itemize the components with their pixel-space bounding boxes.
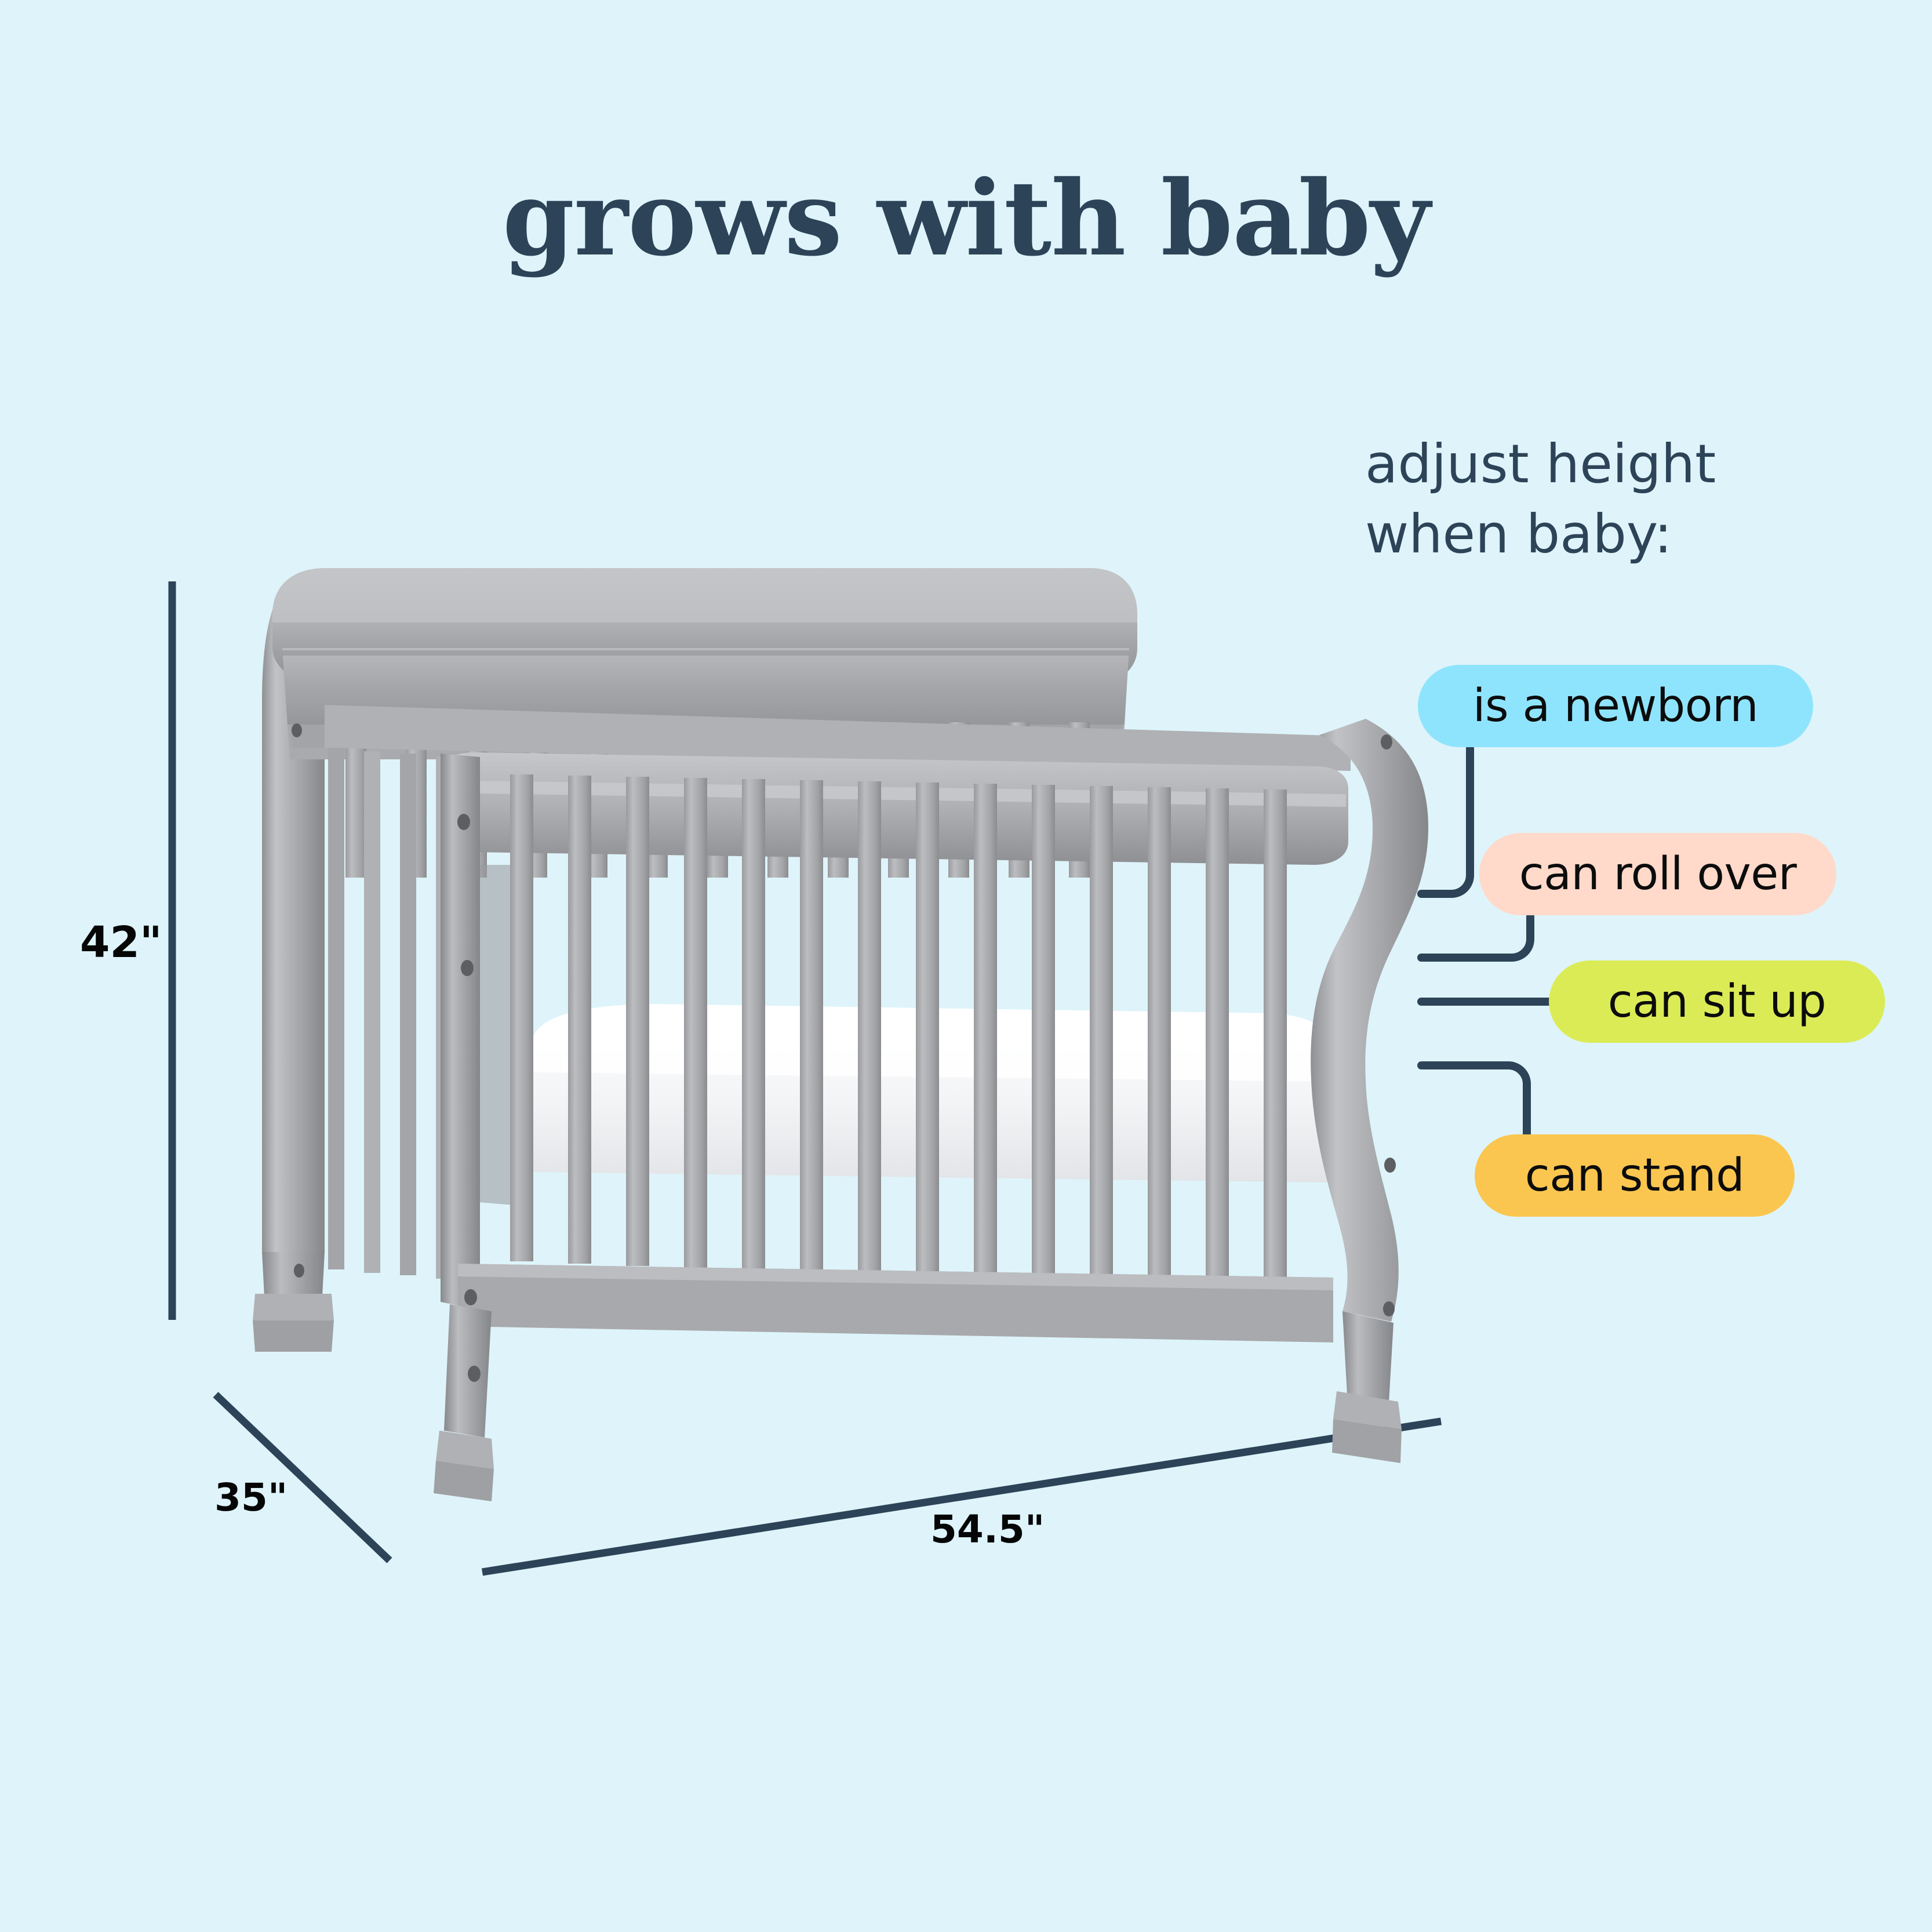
- callout-pill-roll-over[interactable]: can roll over: [1479, 833, 1836, 915]
- dimension-label-width: 54.5": [930, 1507, 1045, 1552]
- callout-heading-line1: adjust height: [1365, 429, 1806, 499]
- callout-pill-newborn[interactable]: is a newborn: [1418, 665, 1813, 747]
- connector-newborn: [1421, 748, 1470, 894]
- dimension-label-height: 42": [80, 918, 162, 967]
- callout-heading: adjust height when baby:: [1365, 429, 1806, 570]
- page-title: grows with baby: [0, 167, 1932, 270]
- connector-stand: [1421, 1065, 1527, 1136]
- crib-illustration: [253, 568, 1428, 1501]
- connector-rollover: [1421, 916, 1530, 958]
- callout-pill-sit-up[interactable]: can sit up: [1549, 960, 1885, 1043]
- infographic-canvas: grows with baby adjust height when baby:…: [0, 0, 1932, 1932]
- callout-heading-line2: when baby:: [1365, 499, 1806, 569]
- callout-pill-stand[interactable]: can stand: [1475, 1134, 1795, 1217]
- callout-connectors: [1421, 748, 1552, 1136]
- dimension-label-depth: 35": [214, 1475, 288, 1520]
